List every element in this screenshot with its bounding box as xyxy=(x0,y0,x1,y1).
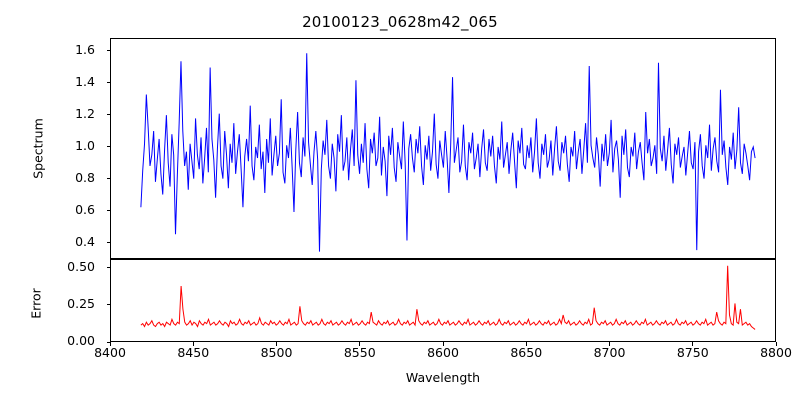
x-axis-label: Wavelength xyxy=(110,370,776,385)
x-tick-label: 8650 xyxy=(496,347,556,360)
spectrum-line xyxy=(141,53,755,251)
x-tick-label: 8700 xyxy=(580,347,640,360)
error-line xyxy=(141,266,755,330)
spectrum-y-tick-label: 0.6 xyxy=(35,204,95,217)
spectrum-y-tick-mark xyxy=(107,210,111,211)
spectrum-y-tick-mark xyxy=(107,114,111,115)
spectrum-y-tick-mark xyxy=(107,242,111,243)
spectrum-axes xyxy=(110,38,776,259)
error-y-tick-label: 0.00 xyxy=(35,335,95,348)
error-y-tick-label: 0.50 xyxy=(35,261,95,274)
x-tick-label: 8800 xyxy=(746,347,800,360)
x-tick-label: 8550 xyxy=(330,347,390,360)
x-tick-label: 8400 xyxy=(80,347,140,360)
spectrum-y-tick-mark xyxy=(107,82,111,83)
spectrum-plot-area xyxy=(111,39,775,258)
error-y-tick-mark xyxy=(107,267,111,268)
matplotlib-figure: 20100123_0628m42_065 Spectrum Error Wave… xyxy=(0,0,800,400)
error-plot-area xyxy=(111,260,775,341)
spectrum-y-tick-label: 1.2 xyxy=(35,108,95,121)
error-y-tick-label: 0.25 xyxy=(35,298,95,311)
spectrum-y-tick-label: 1.4 xyxy=(35,76,95,89)
x-tick-label: 8500 xyxy=(247,347,307,360)
error-axes xyxy=(110,259,776,342)
spectrum-y-tick-label: 0.8 xyxy=(35,172,95,185)
spectrum-y-tick-mark xyxy=(107,178,111,179)
spectrum-y-tick-label: 0.4 xyxy=(35,236,95,249)
spectrum-y-tick-label: 1.0 xyxy=(35,140,95,153)
x-tick-label: 8450 xyxy=(163,347,223,360)
x-tick-label: 8600 xyxy=(413,347,473,360)
figure-title: 20100123_0628m42_065 xyxy=(0,13,800,31)
spectrum-y-tick-mark xyxy=(107,146,111,147)
spectrum-y-tick-label: 1.6 xyxy=(35,44,95,57)
x-tick-label: 8750 xyxy=(663,347,723,360)
error-y-tick-mark xyxy=(107,304,111,305)
spectrum-y-tick-mark xyxy=(107,50,111,51)
